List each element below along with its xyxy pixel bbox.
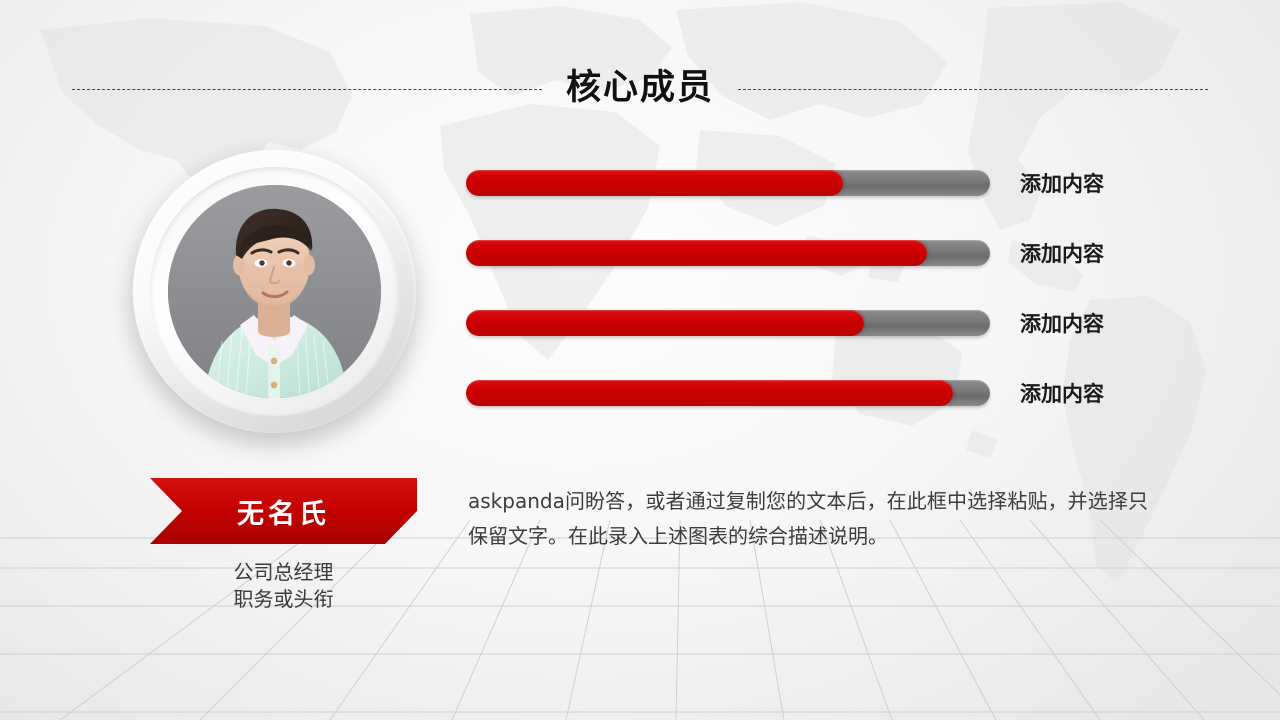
progress-fill xyxy=(466,380,953,406)
role-line-2: 职务或头衔 xyxy=(150,587,417,614)
avatar xyxy=(133,150,416,433)
progress-track[interactable] xyxy=(466,380,990,406)
progress-track[interactable] xyxy=(466,170,990,196)
progress-label: 添加内容 xyxy=(1020,378,1104,408)
slide-canvas: 核心成员 xyxy=(0,0,1280,720)
name-banner: 无名氏 xyxy=(150,478,417,544)
page-title: 核心成员 xyxy=(566,70,714,109)
header-rule-right xyxy=(738,89,1208,90)
slide-header: 核心成员 xyxy=(0,62,1280,116)
progress-bar-list: 添加内容 添加内容 添加内容 添加内容 xyxy=(466,170,1166,450)
progress-fill xyxy=(466,310,864,336)
progress-bar-row[interactable]: 添加内容 xyxy=(466,240,1166,266)
portrait-photo xyxy=(168,185,381,398)
progress-track[interactable] xyxy=(466,310,990,336)
member-name: 无名氏 xyxy=(237,492,330,531)
progress-bar-row[interactable]: 添加内容 xyxy=(466,380,1166,406)
progress-label: 添加内容 xyxy=(1020,308,1104,338)
progress-bar-row[interactable]: 添加内容 xyxy=(466,310,1166,336)
progress-fill xyxy=(466,170,843,196)
progress-fill xyxy=(466,240,927,266)
member-role: 公司总经理 职务或头衔 xyxy=(150,560,417,614)
progress-track[interactable] xyxy=(466,240,990,266)
description-paragraph: askpanda问盼答，或者通过复制您的文本后，在此框中选择粘贴，并选择只保留文… xyxy=(468,484,1148,554)
progress-bar-row[interactable]: 添加内容 xyxy=(466,170,1166,196)
role-line-1: 公司总经理 xyxy=(150,560,417,587)
progress-label: 添加内容 xyxy=(1020,168,1104,198)
header-rule-left xyxy=(72,89,542,90)
progress-label: 添加内容 xyxy=(1020,238,1104,268)
